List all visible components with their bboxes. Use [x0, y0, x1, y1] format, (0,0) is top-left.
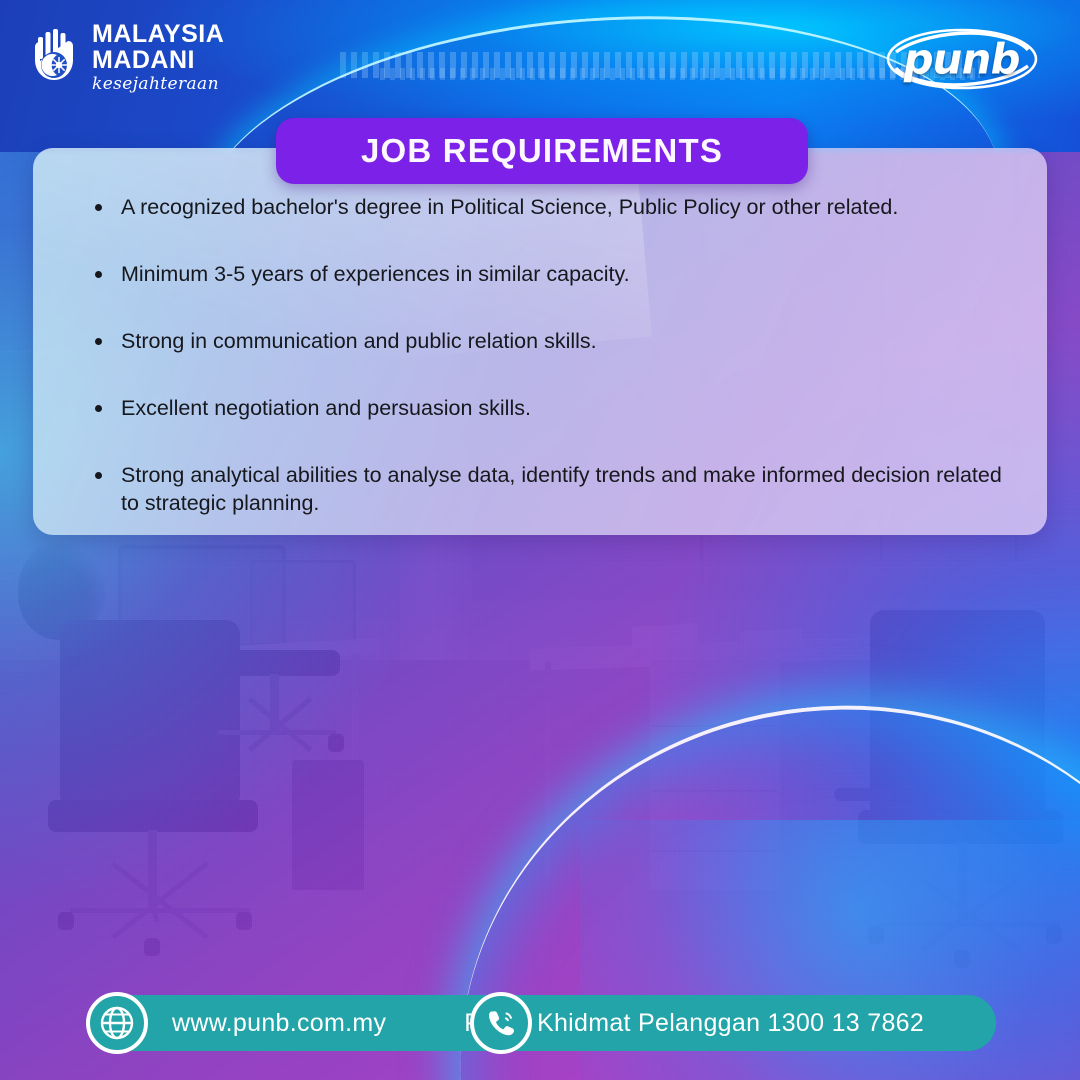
malaysia-madani-logo: MALAYSIA MADANI kesejahteraan — [26, 22, 224, 93]
punb-logo: punb — [882, 22, 1042, 96]
phone-ringing-icon — [482, 1004, 520, 1042]
website-contact-group[interactable]: www.punb.com.my — [172, 1009, 386, 1038]
requirement-item: Excellent negotiation and persuasion ski… — [91, 395, 1023, 423]
phone-icon-badge[interactable] — [470, 992, 532, 1054]
phone-contact-group[interactable]: Pusat Khidmat Pelanggan 1300 13 7862 — [464, 1009, 924, 1038]
madani-hand-crescent-star-icon — [26, 27, 82, 89]
madani-tagline: kesejahteraan — [92, 76, 224, 93]
requirement-item: Strong in communication and public relat… — [91, 328, 1023, 356]
job-requirements-poster: MALAYSIA MADANI kesejahteraan punb A rec… — [0, 0, 1080, 1080]
globe-icon-badge[interactable] — [86, 992, 148, 1054]
page-title: JOB REQUIREMENTS — [361, 132, 723, 170]
requirements-list: A recognized bachelor's degree in Politi… — [33, 148, 1047, 518]
page-title-pill: JOB REQUIREMENTS — [276, 118, 808, 184]
footer-contact-bar: www.punb.com.my Pusat Khidmat Pelanggan … — [96, 995, 996, 1051]
customer-service-label[interactable]: Pusat Khidmat Pelanggan 1300 13 7862 — [464, 1009, 924, 1038]
madani-line-1: MALAYSIA — [92, 22, 224, 47]
madani-line-2: MADANI — [92, 48, 224, 73]
requirements-card: A recognized bachelor's degree in Politi… — [33, 148, 1047, 535]
globe-icon — [98, 1004, 136, 1042]
requirement-item: Minimum 3-5 years of experiences in simi… — [91, 261, 1023, 289]
punb-wordmark: punb — [878, 35, 1047, 84]
requirement-item: A recognized bachelor's degree in Politi… — [91, 194, 1023, 222]
requirement-item: Strong analytical abilities to analyse d… — [91, 462, 1023, 518]
website-label[interactable]: www.punb.com.my — [172, 1009, 386, 1038]
